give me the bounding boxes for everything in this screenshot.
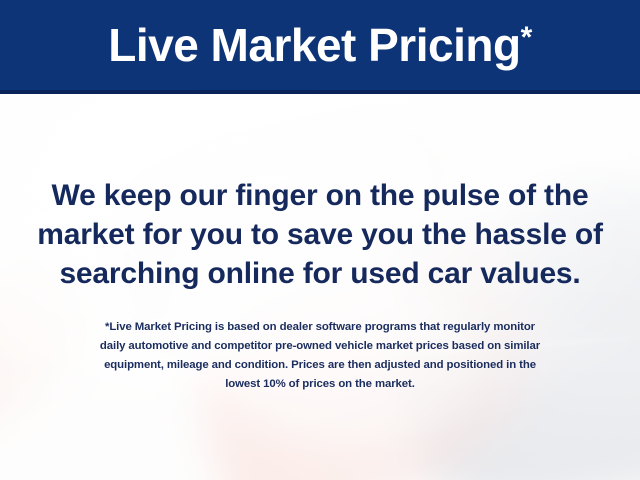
disclaimer: *Live Market Pricing is based on dealer … [20, 318, 620, 394]
disclaimer-line-2: daily automotive and competitor pre-owne… [20, 337, 620, 356]
page-title-text: Live Market Pricing [108, 19, 520, 71]
page-title: Live Market Pricing* [108, 22, 532, 68]
disclaimer-line-4: lowest 10% of prices on the market. [20, 375, 620, 394]
live-market-pricing-banner-graphic: Live Market Pricing* We keep our finger … [0, 0, 640, 480]
disclaimer-line-1: *Live Market Pricing is based on dealer … [20, 318, 620, 337]
headline-line-3: searching online for used car values. [0, 254, 640, 293]
headline: We keep our finger on the pulse of the m… [0, 176, 640, 293]
headline-line-1: We keep our finger on the pulse of the [0, 176, 640, 215]
disclaimer-line-3: equipment, mileage and condition. Prices… [20, 356, 620, 375]
page-title-asterisk: * [521, 21, 532, 54]
header-banner: Live Market Pricing* [0, 0, 640, 94]
headline-line-2: market for you to save you the hassle of [0, 215, 640, 254]
